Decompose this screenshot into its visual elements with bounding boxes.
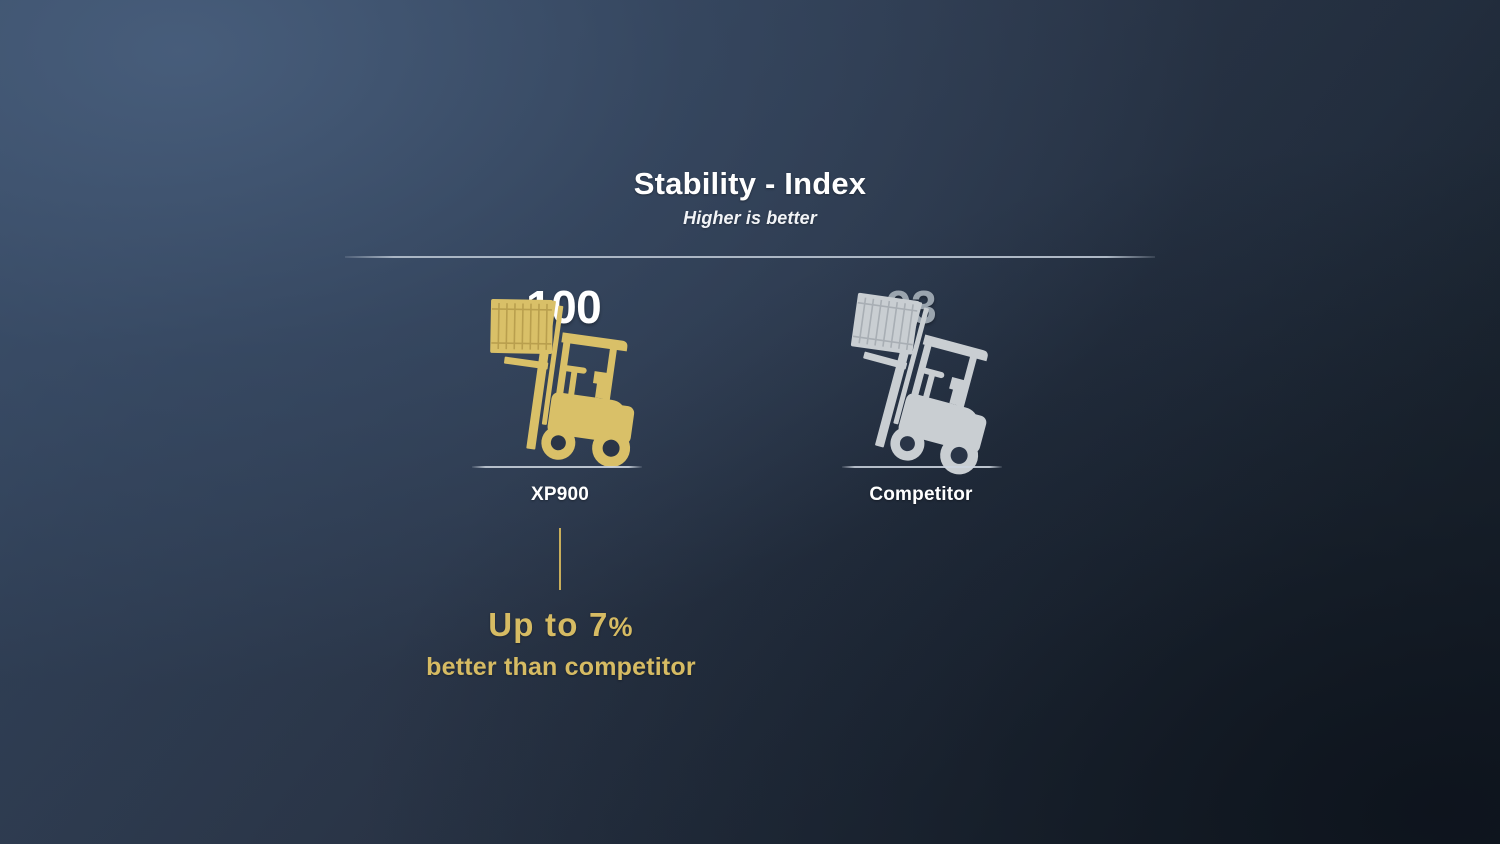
- callout-headline-unit: %: [609, 612, 634, 642]
- callout-headline-prefix: Up to 7: [488, 606, 608, 643]
- callout-connector-line: [559, 528, 561, 590]
- forklift-stage-competitor: 93: [776, 286, 1076, 472]
- ground-line-xp900: [472, 466, 642, 468]
- callout-subtext: better than competitor: [0, 653, 1500, 682]
- comparison-column-competitor: 93: [776, 286, 1076, 526]
- forklift-stage-xp900: 100: [406, 286, 706, 472]
- column-label-competitor: Competitor: [771, 484, 1071, 506]
- page-title: Stability - Index: [0, 168, 1500, 199]
- callout-headline: Up to 7%: [0, 608, 1500, 643]
- chart-header: Stability - Index Higher is better: [0, 168, 1500, 229]
- column-label-xp900: XP900: [410, 484, 710, 506]
- ground-line-competitor: [842, 466, 1002, 468]
- forklift-icon: [800, 292, 1000, 472]
- comparison-column-xp900: 100: [406, 286, 706, 526]
- comparison-group: 100: [0, 286, 1500, 526]
- stability-index-slide: Stability - Index Higher is better 100: [0, 0, 1500, 844]
- title-divider: [345, 256, 1155, 258]
- chart-subtitle: Higher is better: [0, 208, 1500, 229]
- callout-block: Up to 7% better than competitor: [0, 608, 1500, 682]
- forklift-icon: [452, 292, 652, 472]
